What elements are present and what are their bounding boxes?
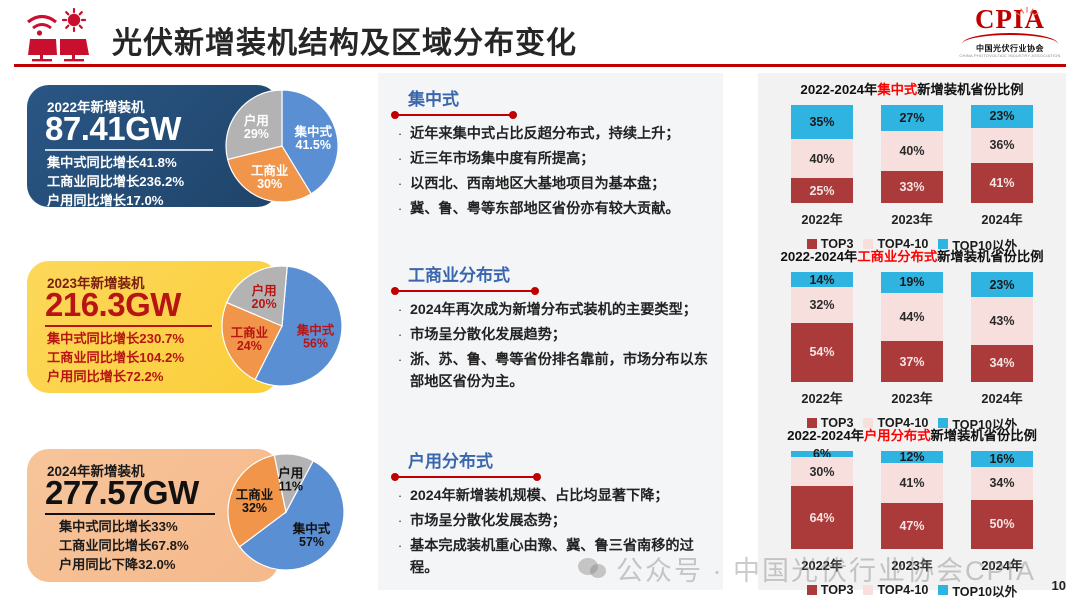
page-title: 光伏新增装机结构及区域分布变化 xyxy=(112,18,577,62)
bar-segment: 35% xyxy=(791,105,853,139)
text-block-centralized: 集中式 · 近年来集中式占比反超分布式，持续上升； · 近三年市场集中度有所提高… xyxy=(390,89,720,223)
text-block-heading: 集中式 xyxy=(408,89,720,110)
pie-slice-name: 户用 xyxy=(252,283,277,298)
bullet-marker: · xyxy=(390,324,410,346)
list-item-text: 2024年再次成为新增分布式装机的主要类型； xyxy=(410,299,697,321)
chart-title-prefix: 2022-2024年 xyxy=(787,428,864,443)
bar-segment: 34% xyxy=(971,467,1033,500)
list-item-text: 以西北、西南地区大基地项目为基本盘； xyxy=(410,173,665,195)
chart-legend: TOP3TOP4-10TOP10以外 xyxy=(777,581,1047,599)
text-block-commercial: 工商业分布式 · 2024年再次成为新增分布式装机的主要类型； · 市场呈分散化… xyxy=(390,265,720,396)
chart-title: 2022-2024年户用分布式新增装机省份比例 xyxy=(764,427,1060,445)
list-item-text: 冀、鲁、粤等东部地区省份亦有较大贡献。 xyxy=(410,198,680,220)
pie-slice-name: 集中式 xyxy=(296,322,335,337)
pie-chart-2023: 集中式56%工商业24%户用20% xyxy=(204,262,362,395)
bar-segment: 30% xyxy=(791,457,853,486)
bar-stack: 23%43%34% xyxy=(971,272,1033,382)
chart-title-prefix: 2022-2024年 xyxy=(800,82,877,97)
bullet-marker: · xyxy=(390,198,410,220)
list-item: · 2024年新增装机规模、占比均显著下降； xyxy=(390,485,720,507)
bar-stack: 6%30%64% xyxy=(791,451,853,549)
bar-column: 6%30%64%2022年 xyxy=(784,451,860,574)
bar-segment: 37% xyxy=(881,341,943,382)
bar-stack: 23%36%41% xyxy=(971,105,1033,203)
list-item-text: 2024年新增装机规模、占比均显著下降； xyxy=(410,485,669,507)
cpia-chinese-name: 中国光伏行业协会 xyxy=(958,44,1062,53)
legend-item: TOP3 xyxy=(807,581,854,599)
bar-stack: 16%34%50% xyxy=(971,451,1033,549)
sun-rays-icon xyxy=(1014,6,1040,18)
text-block-heading: 户用分布式 xyxy=(408,451,720,472)
bar-segment: 47% xyxy=(881,503,943,549)
page-number: 10 xyxy=(1052,578,1066,593)
bullet-marker: · xyxy=(390,485,410,507)
kpi-column: 2022年新增装机 87.41GW 集中式同比增长41.8% 工商业同比增长23… xyxy=(14,78,364,590)
solar-panel-icon xyxy=(22,8,96,62)
list-item-text: 近三年市场集中度有所提高； xyxy=(410,148,594,170)
chart-title-suffix: 新增装机省份比例 xyxy=(931,428,1037,443)
bar-column: 27%40%33%2023年 xyxy=(874,105,950,228)
list-item: · 以西北、西南地区大基地项目为基本盘； xyxy=(390,173,720,195)
list-item: · 冀、鲁、粤等东部地区省份亦有较大贡献。 xyxy=(390,198,720,220)
bar-segment: 14% xyxy=(791,272,853,287)
bar-stack: 14%32%54% xyxy=(791,272,853,382)
pie-slice-value: 30% xyxy=(257,177,282,191)
chart-title-highlight: 工商业分布式 xyxy=(857,249,937,264)
bar-column: 35%40%25%2022年 xyxy=(784,105,860,228)
text-block-heading: 工商业分布式 xyxy=(408,265,720,286)
pie-slice-name: 工商业 xyxy=(251,163,289,178)
list-item-text: 市场呈分散化发展趋势； xyxy=(410,324,566,346)
bar-segment: 54% xyxy=(791,323,853,382)
chart-title-suffix: 新增装机省份比例 xyxy=(937,249,1043,264)
list-item-text: 近年来集中式占比反超分布式，持续上升； xyxy=(410,123,680,145)
cpia-arc xyxy=(962,33,1058,44)
bar-column: 23%43%34%2024年 xyxy=(964,272,1040,407)
legend-swatch xyxy=(807,585,817,595)
bar-segment: 23% xyxy=(971,105,1033,128)
slide-header: 光伏新增装机结构及区域分布变化 CPIA 中国光伏行业协会 CHINA PHOT… xyxy=(0,0,1080,68)
bar-category-label: 2023年 xyxy=(874,388,950,407)
legend-label: TOP3 xyxy=(821,583,854,597)
list-item: · 浙、苏、鲁、粤等省份排名靠前，市场分布以东部地区省份为主。 xyxy=(390,349,720,393)
bullet-marker: · xyxy=(390,299,410,321)
pie-slice-value: 32% xyxy=(242,501,267,515)
bar-group: 35%40%25%2022年27%40%33%2023年23%36%41%202… xyxy=(777,105,1047,228)
slide: 光伏新增装机结构及区域分布变化 CPIA 中国光伏行业协会 CHINA PHOT… xyxy=(0,0,1080,599)
text-block-residential: 户用分布式 · 2024年新增装机规模、占比均显著下降； · 市场呈分散化发展态… xyxy=(390,451,720,582)
pie-slice-name: 集中式 xyxy=(292,521,331,536)
header-divider xyxy=(14,64,1066,67)
pie-chart-2024: 集中式57%工商业32%户用11% xyxy=(210,450,362,581)
bar-category-label: 2022年 xyxy=(784,555,860,574)
pie-slice-name: 工商业 xyxy=(236,487,274,502)
kpi-card-value: 277.57GW xyxy=(45,474,199,512)
list-item-text: 基本完成装机重心由豫、冀、鲁三省南移的过程。 xyxy=(410,535,720,579)
analysis-column: 集中式 · 近年来集中式占比反超分布式，持续上升； · 近三年市场集中度有所提高… xyxy=(378,73,723,590)
bar-segment: 34% xyxy=(971,345,1033,382)
kpi-card-value: 216.3GW xyxy=(45,286,181,324)
pie-slice-value: 11% xyxy=(279,480,303,494)
pie-slice-name: 工商业 xyxy=(231,325,269,340)
legend-label: TOP4-10 xyxy=(877,583,928,597)
bar-segment: 32% xyxy=(791,287,853,322)
list-item: · 市场呈分散化发展趋势； xyxy=(390,324,720,346)
pie-slice-name: 户用 xyxy=(278,466,303,481)
bar-category-label: 2023年 xyxy=(874,555,950,574)
bar-category-label: 2022年 xyxy=(784,388,860,407)
pie-slice-value: 29% xyxy=(244,127,269,141)
bullet-list: · 近年来集中式占比反超分布式，持续上升； · 近三年市场集中度有所提高； · … xyxy=(390,123,720,220)
bullet-marker: · xyxy=(390,349,410,371)
bar-segment: 40% xyxy=(881,131,943,170)
pie-slice-name: 户用 xyxy=(244,113,269,128)
chart-plot-area: 35%40%25%2022年27%40%33%2023年23%36%41%202… xyxy=(777,105,1047,254)
bar-segment: 64% xyxy=(791,486,853,549)
list-item: · 基本完成装机重心由豫、冀、鲁三省南移的过程。 xyxy=(390,535,720,579)
bar-segment: 40% xyxy=(791,139,853,178)
bar-category-label: 2022年 xyxy=(784,209,860,228)
bullet-marker: · xyxy=(390,173,410,195)
pie-slice-name: 集中式 xyxy=(294,124,333,139)
chart-title-prefix: 2022-2024年 xyxy=(780,249,857,264)
bar-segment: 19% xyxy=(881,272,943,293)
bar-segment: 50% xyxy=(971,500,1033,549)
bar-segment: 23% xyxy=(971,272,1033,297)
chart-title-suffix: 新增装机省份比例 xyxy=(917,82,1023,97)
chart-title: 2022-2024年集中式新增装机省份比例 xyxy=(764,81,1060,99)
bullet-marker: · xyxy=(390,535,410,557)
bar-stack: 35%40%25% xyxy=(791,105,853,203)
bar-segment: 36% xyxy=(971,128,1033,163)
bar-segment: 27% xyxy=(881,105,943,131)
bar-column: 14%32%54%2022年 xyxy=(784,272,860,407)
bar-column: 23%36%41%2024年 xyxy=(964,105,1040,228)
legend-swatch xyxy=(863,585,873,595)
cpia-wordmark: CPIA xyxy=(958,4,1062,34)
cpia-english-name: CHINA PHOTOVOLTAIC INDUSTRY ASSOCIATION xyxy=(958,53,1062,59)
pie-chart-2022: 集中式41.5%工商业30%户用29% xyxy=(210,88,360,213)
list-item-text: 浙、苏、鲁、粤等省份排名靠前，市场分布以东部地区省份为主。 xyxy=(410,349,720,393)
legend-item: TOP10以外 xyxy=(938,581,1017,599)
bar-group: 14%32%54%2022年19%44%37%2023年23%43%34%202… xyxy=(777,272,1047,407)
bullet-marker: · xyxy=(390,148,410,170)
bar-segment: 43% xyxy=(971,297,1033,344)
chart-plot-area: 14%32%54%2022年19%44%37%2023年23%43%34%202… xyxy=(777,272,1047,433)
bar-category-label: 2024年 xyxy=(964,388,1040,407)
chart-title-highlight: 户用分布式 xyxy=(864,428,930,443)
kpi-card-divider xyxy=(45,325,212,327)
kpi-card-divider xyxy=(45,513,215,515)
bar-stack: 27%40%33% xyxy=(881,105,943,203)
bullet-list: · 2024年再次成为新增分布式装机的主要类型； · 市场呈分散化发展趋势； ·… xyxy=(390,299,720,393)
heading-underline xyxy=(390,287,720,295)
list-item: · 2024年再次成为新增分布式装机的主要类型； xyxy=(390,299,720,321)
bar-column: 16%34%50%2024年 xyxy=(964,451,1040,574)
bullet-marker: · xyxy=(390,510,410,532)
bar-segment: 25% xyxy=(791,178,853,203)
list-item: · 近年来集中式占比反超分布式，持续上升； xyxy=(390,123,720,145)
pie-slice-value: 24% xyxy=(237,339,262,353)
chart-plot-area: 6%30%64%2022年12%41%47%2023年16%34%50%2024… xyxy=(777,451,1047,599)
cpia-logo: CPIA 中国光伏行业协会 CHINA PHOTOVOLTAIC INDUSTR… xyxy=(958,4,1062,62)
bar-segment: 44% xyxy=(881,293,943,341)
list-item: · 市场呈分散化发展态势； xyxy=(390,510,720,532)
stacked-bar-chart-residential: 2022-2024年户用分布式新增装机省份比例 6%30%64%2022年12%… xyxy=(764,427,1060,587)
bar-category-label: 2024年 xyxy=(964,555,1040,574)
pie-slice-value: 57% xyxy=(299,535,324,549)
heading-underline xyxy=(390,111,720,119)
bar-column: 19%44%37%2023年 xyxy=(874,272,950,407)
kpi-card-divider xyxy=(45,149,213,151)
pie-slice-value: 56% xyxy=(303,336,328,350)
pie-slice-value: 20% xyxy=(252,297,277,311)
bar-column: 12%41%47%2023年 xyxy=(874,451,950,574)
bar-category-label: 2024年 xyxy=(964,209,1040,228)
stacked-bar-chart-centralized: 2022-2024年集中式新增装机省份比例 35%40%25%2022年27%4… xyxy=(764,81,1060,241)
chart-title: 2022-2024年工商业分布式新增装机省份比例 xyxy=(764,248,1060,266)
bar-stack: 12%41%47% xyxy=(881,451,943,549)
bullet-marker: · xyxy=(390,123,410,145)
kpi-card-value: 87.41GW xyxy=(45,110,181,148)
bar-group: 6%30%64%2022年12%41%47%2023年16%34%50%2024… xyxy=(777,451,1047,574)
heading-underline xyxy=(390,473,720,481)
bar-segment: 33% xyxy=(881,171,943,203)
charts-column: 2022-2024年集中式新增装机省份比例 35%40%25%2022年27%4… xyxy=(758,73,1066,590)
bar-category-label: 2023年 xyxy=(874,209,950,228)
legend-item: TOP4-10 xyxy=(863,581,928,599)
list-item-text: 市场呈分散化发展态势； xyxy=(410,510,566,532)
bar-segment: 12% xyxy=(881,451,943,463)
legend-label: TOP10以外 xyxy=(952,581,1017,599)
bar-segment: 41% xyxy=(881,463,943,503)
pie-slice-value: 41.5% xyxy=(296,138,331,152)
bar-segment: 41% xyxy=(971,163,1033,203)
legend-swatch xyxy=(938,585,948,595)
bullet-list: · 2024年新增装机规模、占比均显著下降； · 市场呈分散化发展态势； · 基… xyxy=(390,485,720,579)
list-item: · 近三年市场集中度有所提高； xyxy=(390,148,720,170)
stacked-bar-chart-commercial: 2022-2024年工商业分布式新增装机省份比例 14%32%54%2022年1… xyxy=(764,248,1060,420)
chart-title-highlight: 集中式 xyxy=(877,82,917,97)
bar-segment: 16% xyxy=(971,451,1033,467)
bar-stack: 19%44%37% xyxy=(881,272,943,382)
